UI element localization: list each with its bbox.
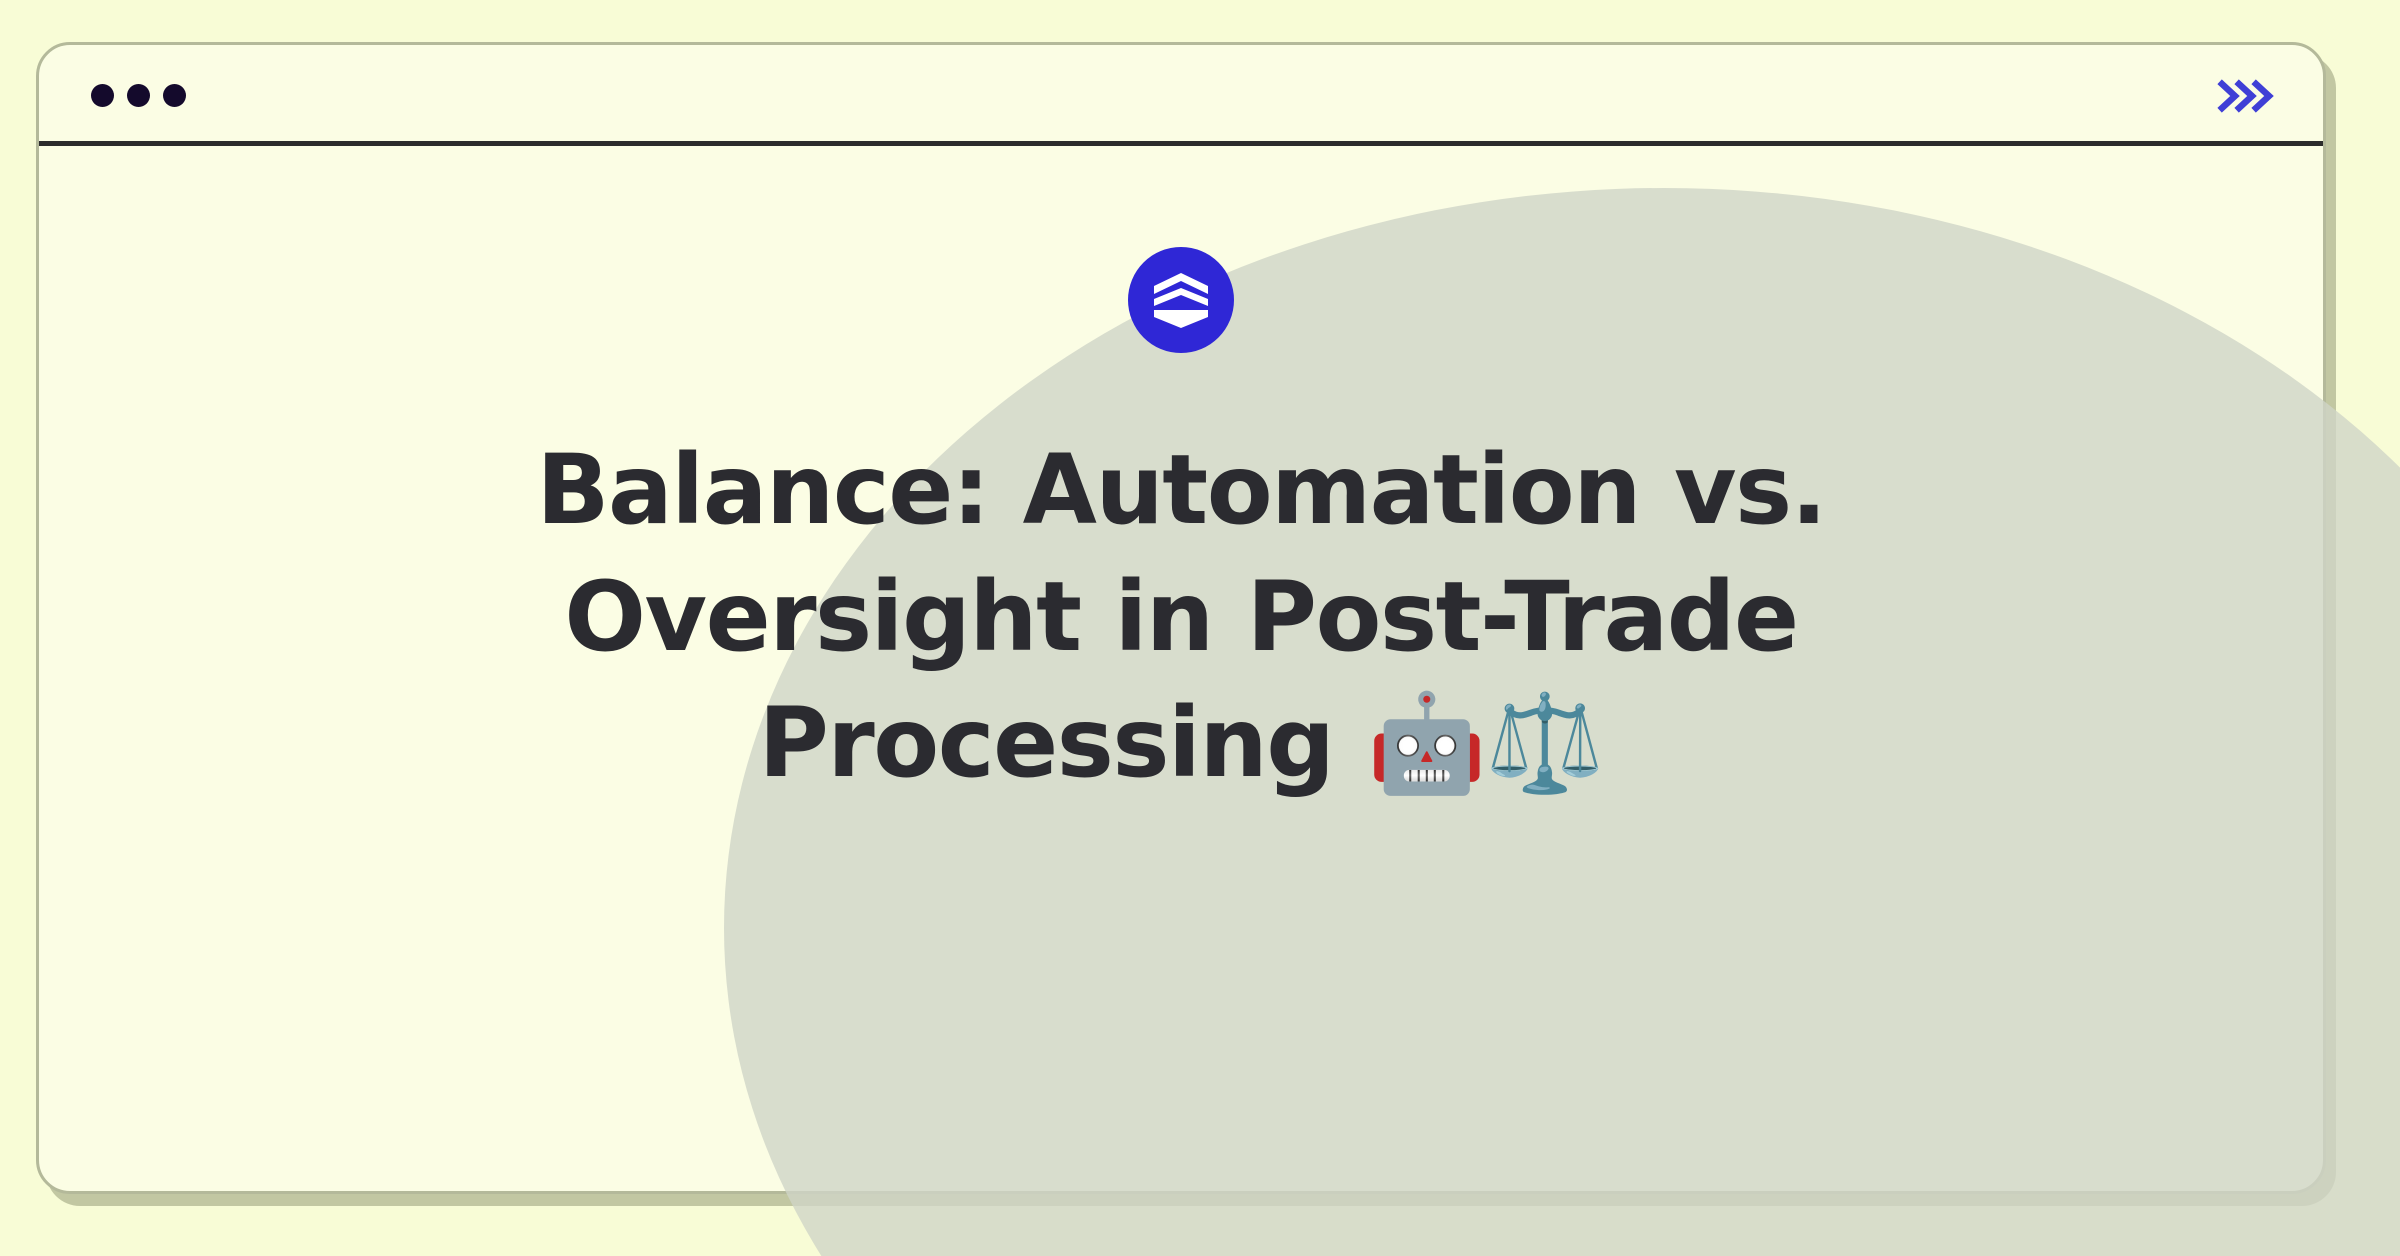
double-chevron-right-icon[interactable]	[2217, 79, 2279, 113]
window-maximize-button[interactable]	[163, 84, 186, 107]
stacked-hexagon-logo-icon	[1128, 247, 1234, 353]
slide-canvas: Balance: Automation vs. Oversight in Pos…	[0, 0, 2400, 1256]
window-titlebar	[39, 45, 2323, 146]
window-close-button[interactable]	[91, 84, 114, 107]
window-minimize-button[interactable]	[127, 84, 150, 107]
window-traffic-lights	[91, 84, 186, 107]
page-title: Balance: Automation vs. Oversight in Pos…	[446, 427, 1916, 807]
